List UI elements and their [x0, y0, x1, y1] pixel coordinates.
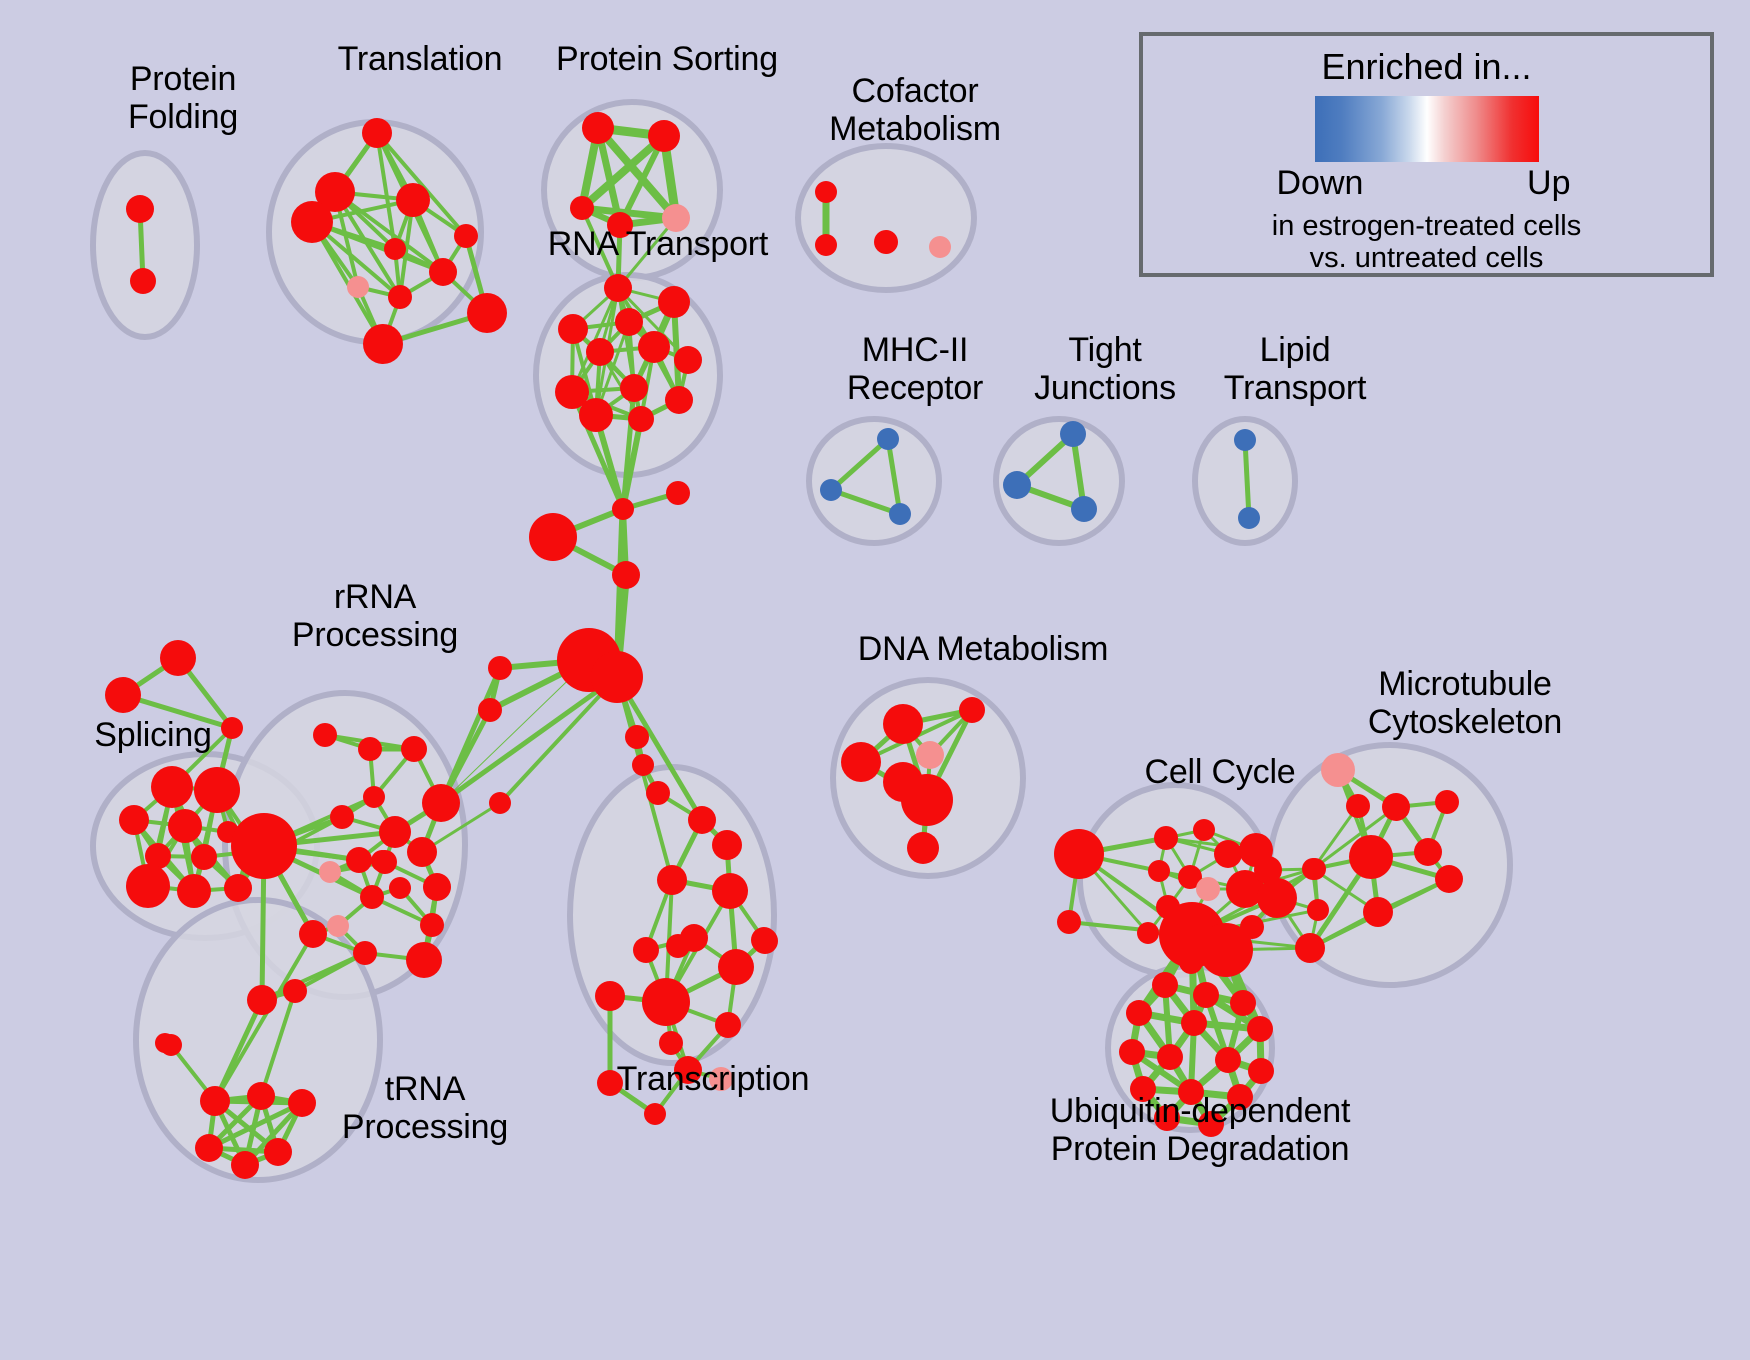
gene-set-node[interactable]	[264, 1138, 292, 1166]
gene-set-node[interactable]	[680, 924, 708, 952]
gene-set-node[interactable]	[429, 258, 457, 286]
gene-set-node[interactable]	[1178, 1079, 1204, 1105]
gene-set-node[interactable]	[407, 837, 437, 867]
gene-set-node[interactable]	[420, 913, 444, 937]
gene-set-node[interactable]	[330, 805, 354, 829]
gene-set-node[interactable]	[126, 864, 170, 908]
gene-set-node[interactable]	[195, 1134, 223, 1162]
gene-set-node[interactable]	[632, 754, 654, 776]
gene-set-node[interactable]	[1130, 1076, 1156, 1102]
gene-set-node[interactable]	[625, 725, 649, 749]
gene-set-node[interactable]	[658, 286, 690, 318]
gene-set-node[interactable]	[1157, 1044, 1183, 1070]
gene-set-node[interactable]	[1414, 838, 1442, 866]
gene-set-node[interactable]	[1257, 878, 1297, 918]
gene-set-node[interactable]	[130, 268, 156, 294]
gene-set-node[interactable]	[901, 774, 953, 826]
gene-set-node[interactable]	[362, 118, 392, 148]
gene-set-node[interactable]	[1193, 982, 1219, 1008]
gene-set-node[interactable]	[389, 877, 411, 899]
gene-set-node[interactable]	[373, 850, 397, 874]
gene-set-node[interactable]	[1126, 1000, 1152, 1026]
cluster-region-protein-folding[interactable]	[93, 153, 197, 337]
gene-set-node[interactable]	[155, 1033, 175, 1053]
gene-set-node[interactable]	[665, 386, 693, 414]
gene-set-node[interactable]	[558, 314, 588, 344]
gene-set-node[interactable]	[1435, 790, 1459, 814]
gene-set-node[interactable]	[1248, 1058, 1274, 1084]
gene-set-node[interactable]	[644, 1103, 666, 1125]
gene-set-node[interactable]	[488, 656, 512, 680]
gene-set-node[interactable]	[648, 120, 680, 152]
gene-set-node[interactable]	[299, 920, 327, 948]
gene-set-node[interactable]	[379, 816, 411, 848]
gene-set-node[interactable]	[1230, 990, 1256, 1016]
gene-set-node[interactable]	[570, 196, 594, 220]
legend-subtitle-line1: in estrogen-treated cells	[1143, 210, 1710, 242]
gene-set-node[interactable]	[247, 985, 277, 1015]
gene-set-node[interactable]	[666, 481, 690, 505]
gene-set-node[interactable]	[388, 285, 412, 309]
gene-set-node[interactable]	[1193, 819, 1215, 841]
gene-set-node[interactable]	[815, 181, 837, 203]
gene-set-node[interactable]	[1199, 923, 1253, 977]
gene-set-node[interactable]	[712, 830, 742, 860]
gene-set-node[interactable]	[1181, 1010, 1207, 1036]
gene-set-node[interactable]	[752, 928, 778, 954]
gene-set-node[interactable]	[319, 861, 341, 883]
gene-set-node[interactable]	[423, 873, 451, 901]
gene-set-node[interactable]	[353, 941, 377, 965]
gene-set-node[interactable]	[615, 308, 643, 336]
gene-set-node[interactable]	[1003, 471, 1031, 499]
gene-set-node[interactable]	[1154, 1105, 1180, 1131]
gene-set-node[interactable]	[597, 1070, 623, 1096]
gene-set-node[interactable]	[1057, 910, 1081, 934]
gene-set-node[interactable]	[638, 331, 670, 363]
gene-set-node[interactable]	[1295, 933, 1325, 963]
gene-set-node[interactable]	[1196, 877, 1220, 901]
gene-set-node[interactable]	[1234, 429, 1256, 451]
gene-set-node[interactable]	[674, 1056, 702, 1084]
gene-set-node[interactable]	[604, 274, 632, 302]
gene-set-node[interactable]	[929, 236, 951, 258]
gene-set-node[interactable]	[291, 201, 333, 243]
gene-set-node[interactable]	[360, 885, 384, 909]
gene-set-node[interactable]	[715, 1012, 741, 1038]
gene-set-node[interactable]	[231, 1151, 259, 1179]
gene-set-node[interactable]	[221, 717, 243, 739]
gene-set-node[interactable]	[231, 813, 297, 879]
gene-set-node[interactable]	[105, 677, 141, 713]
gene-set-node[interactable]	[346, 847, 372, 873]
gene-set-node[interactable]	[633, 937, 659, 963]
gene-set-node[interactable]	[612, 498, 634, 520]
gene-set-node[interactable]	[1198, 1111, 1224, 1137]
gene-set-node[interactable]	[642, 978, 690, 1026]
gene-set-node[interactable]	[628, 406, 654, 432]
gene-set-node[interactable]	[529, 513, 577, 561]
gene-set-node[interactable]	[401, 736, 427, 762]
gene-set-node[interactable]	[1152, 972, 1178, 998]
gene-set-node[interactable]	[1154, 826, 1178, 850]
gene-set-node[interactable]	[718, 949, 754, 985]
gene-set-node[interactable]	[1071, 496, 1097, 522]
gene-set-node[interactable]	[1247, 1016, 1273, 1042]
gene-set-node[interactable]	[489, 792, 511, 814]
gene-set-node[interactable]	[1137, 922, 1159, 944]
gene-set-node[interactable]	[406, 942, 442, 978]
gene-set-node[interactable]	[709, 1067, 733, 1091]
legend-panel: Enriched in... Down Up in estrogen-treat…	[1139, 32, 1714, 277]
gene-set-node[interactable]	[877, 428, 899, 450]
gene-set-node[interactable]	[1238, 507, 1260, 529]
gene-set-node[interactable]	[659, 1031, 683, 1055]
gene-set-node[interactable]	[1435, 865, 1463, 893]
gene-set-node[interactable]	[1302, 858, 1324, 880]
gene-set-node[interactable]	[883, 704, 923, 744]
legend-subtitle-line2: vs. untreated cells	[1143, 242, 1710, 274]
gene-set-node[interactable]	[363, 324, 403, 364]
gene-set-node[interactable]	[586, 338, 614, 366]
gene-set-node[interactable]	[168, 809, 202, 843]
gene-set-node[interactable]	[327, 915, 349, 937]
gene-set-node[interactable]	[478, 698, 502, 722]
gene-set-node[interactable]	[1060, 421, 1086, 447]
gene-set-node[interactable]	[657, 865, 687, 895]
legend-up-label: Up	[1527, 164, 1570, 203]
gene-set-node[interactable]	[688, 806, 716, 834]
gene-set-node[interactable]	[889, 503, 911, 525]
gene-set-node[interactable]	[1363, 897, 1393, 927]
gene-set-node[interactable]	[712, 873, 748, 909]
gene-set-node[interactable]	[119, 805, 149, 835]
gene-set-node[interactable]	[607, 212, 633, 238]
gene-set-node[interactable]	[916, 741, 944, 769]
gene-set-node[interactable]	[662, 204, 690, 232]
gene-set-node[interactable]	[582, 112, 614, 144]
gene-set-node[interactable]	[907, 832, 939, 864]
gene-set-node[interactable]	[224, 874, 252, 902]
gene-set-node[interactable]	[959, 697, 985, 723]
gene-set-node[interactable]	[1307, 899, 1329, 921]
gene-set-node[interactable]	[1382, 793, 1410, 821]
gene-set-node[interactable]	[815, 234, 837, 256]
gene-set-node[interactable]	[1349, 835, 1393, 879]
gene-set-node[interactable]	[151, 766, 193, 808]
gene-set-node[interactable]	[579, 398, 613, 432]
gene-set-node[interactable]	[1148, 860, 1170, 882]
gene-set-node[interactable]	[591, 651, 643, 703]
gene-set-node[interactable]	[1214, 840, 1242, 868]
gene-set-node[interactable]	[200, 1086, 230, 1116]
gene-set-node[interactable]	[363, 786, 385, 808]
gene-set-node[interactable]	[467, 293, 507, 333]
gene-set-node[interactable]	[841, 742, 881, 782]
gene-set-node[interactable]	[1227, 1084, 1253, 1110]
gene-set-node[interactable]	[422, 784, 460, 822]
gene-set-node[interactable]	[874, 230, 898, 254]
gene-set-node[interactable]	[454, 224, 478, 248]
gene-set-node[interactable]	[1215, 1047, 1241, 1073]
gene-set-node[interactable]	[396, 183, 430, 217]
gene-set-node[interactable]	[595, 981, 625, 1011]
gene-set-node[interactable]	[620, 374, 648, 402]
gene-set-node[interactable]	[313, 723, 337, 747]
gene-set-node[interactable]	[194, 767, 240, 813]
gene-set-node[interactable]	[160, 640, 196, 676]
legend-endpoint-labels: Down Up	[1277, 164, 1577, 208]
gene-set-node[interactable]	[191, 844, 217, 870]
gene-set-node[interactable]	[612, 561, 640, 589]
gene-set-node[interactable]	[646, 781, 670, 805]
gene-set-node[interactable]	[247, 1082, 275, 1110]
gene-set-node[interactable]	[288, 1089, 316, 1117]
gene-set-node[interactable]	[126, 195, 154, 223]
gene-set-node[interactable]	[820, 479, 842, 501]
gene-set-node[interactable]	[347, 276, 369, 298]
legend-title: Enriched in...	[1143, 46, 1710, 88]
gene-set-node[interactable]	[1346, 794, 1370, 818]
gene-set-node[interactable]	[283, 979, 307, 1003]
gene-set-node[interactable]	[358, 737, 382, 761]
enrichment-map-canvas: Protein FoldingTranslationProtein Sortin…	[0, 0, 1750, 1360]
gene-set-node[interactable]	[384, 238, 406, 260]
legend-down-label: Down	[1277, 164, 1364, 203]
gene-set-node[interactable]	[177, 874, 211, 908]
gene-set-node[interactable]	[1119, 1039, 1145, 1065]
gene-set-node[interactable]	[1054, 829, 1104, 879]
legend-color-gradient	[1315, 96, 1539, 162]
gene-set-node[interactable]	[1321, 753, 1355, 787]
gene-set-node[interactable]	[674, 346, 702, 374]
